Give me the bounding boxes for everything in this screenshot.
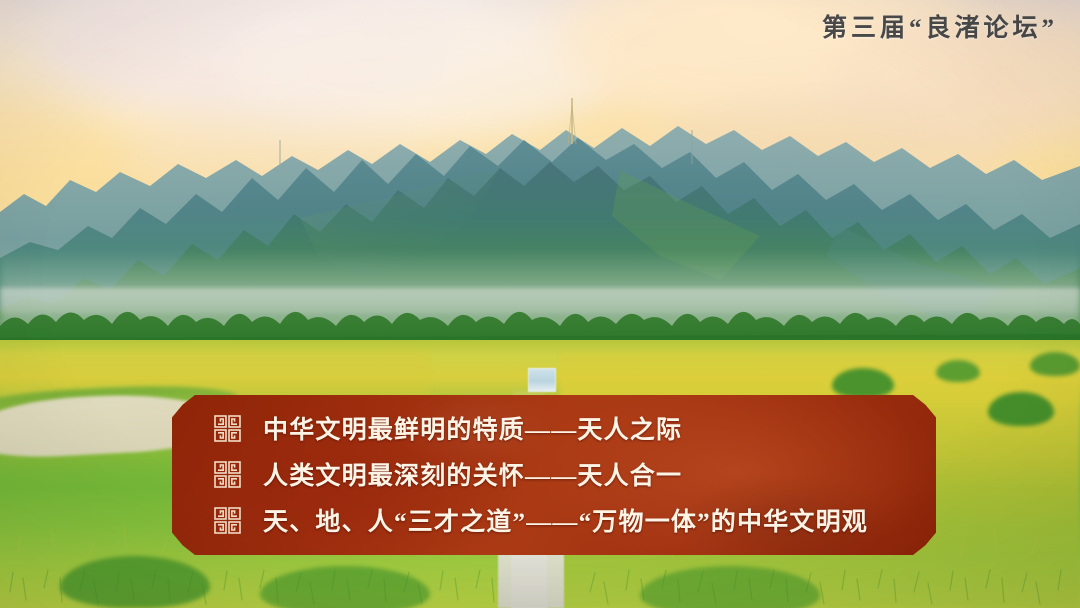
stone-path-steps	[498, 552, 564, 608]
chinese-meander-square-icon	[214, 415, 241, 442]
slide-canvas: 第三届“良渚论坛”	[0, 0, 1080, 608]
chinese-meander-square-icon	[214, 461, 241, 488]
banner-line-list: 中华文明最鲜明的特质——天人之际	[172, 395, 936, 555]
shrub	[1030, 352, 1080, 376]
chinese-meander-square-icon	[214, 507, 241, 534]
antenna-tower-icon	[276, 140, 284, 170]
forum-brand-title: 第三届“良渚论坛”	[822, 8, 1058, 44]
antenna-tower-icon	[688, 130, 696, 164]
statement-banner: 中华文明最鲜明的特质——天人之际	[172, 395, 936, 555]
banner-line: 天、地、人“三才之道”——“万物一体”的中华文明观	[172, 497, 936, 543]
banner-line-text: 中华文明最鲜明的特质——天人之际	[263, 410, 682, 446]
shrub	[832, 368, 894, 398]
banner-line-text: 人类文明最深刻的关怀——天人合一	[263, 456, 682, 492]
banner-line: 人类文明最深刻的关怀——天人合一	[172, 451, 936, 497]
shrub	[988, 392, 1054, 426]
banner-line-text: 天、地、人“三才之道”——“万物一体”的中华文明观	[263, 502, 868, 538]
banner-line: 中华文明最鲜明的特质——天人之际	[172, 405, 936, 451]
antenna-tower-icon	[566, 98, 578, 144]
shrub	[936, 360, 980, 382]
